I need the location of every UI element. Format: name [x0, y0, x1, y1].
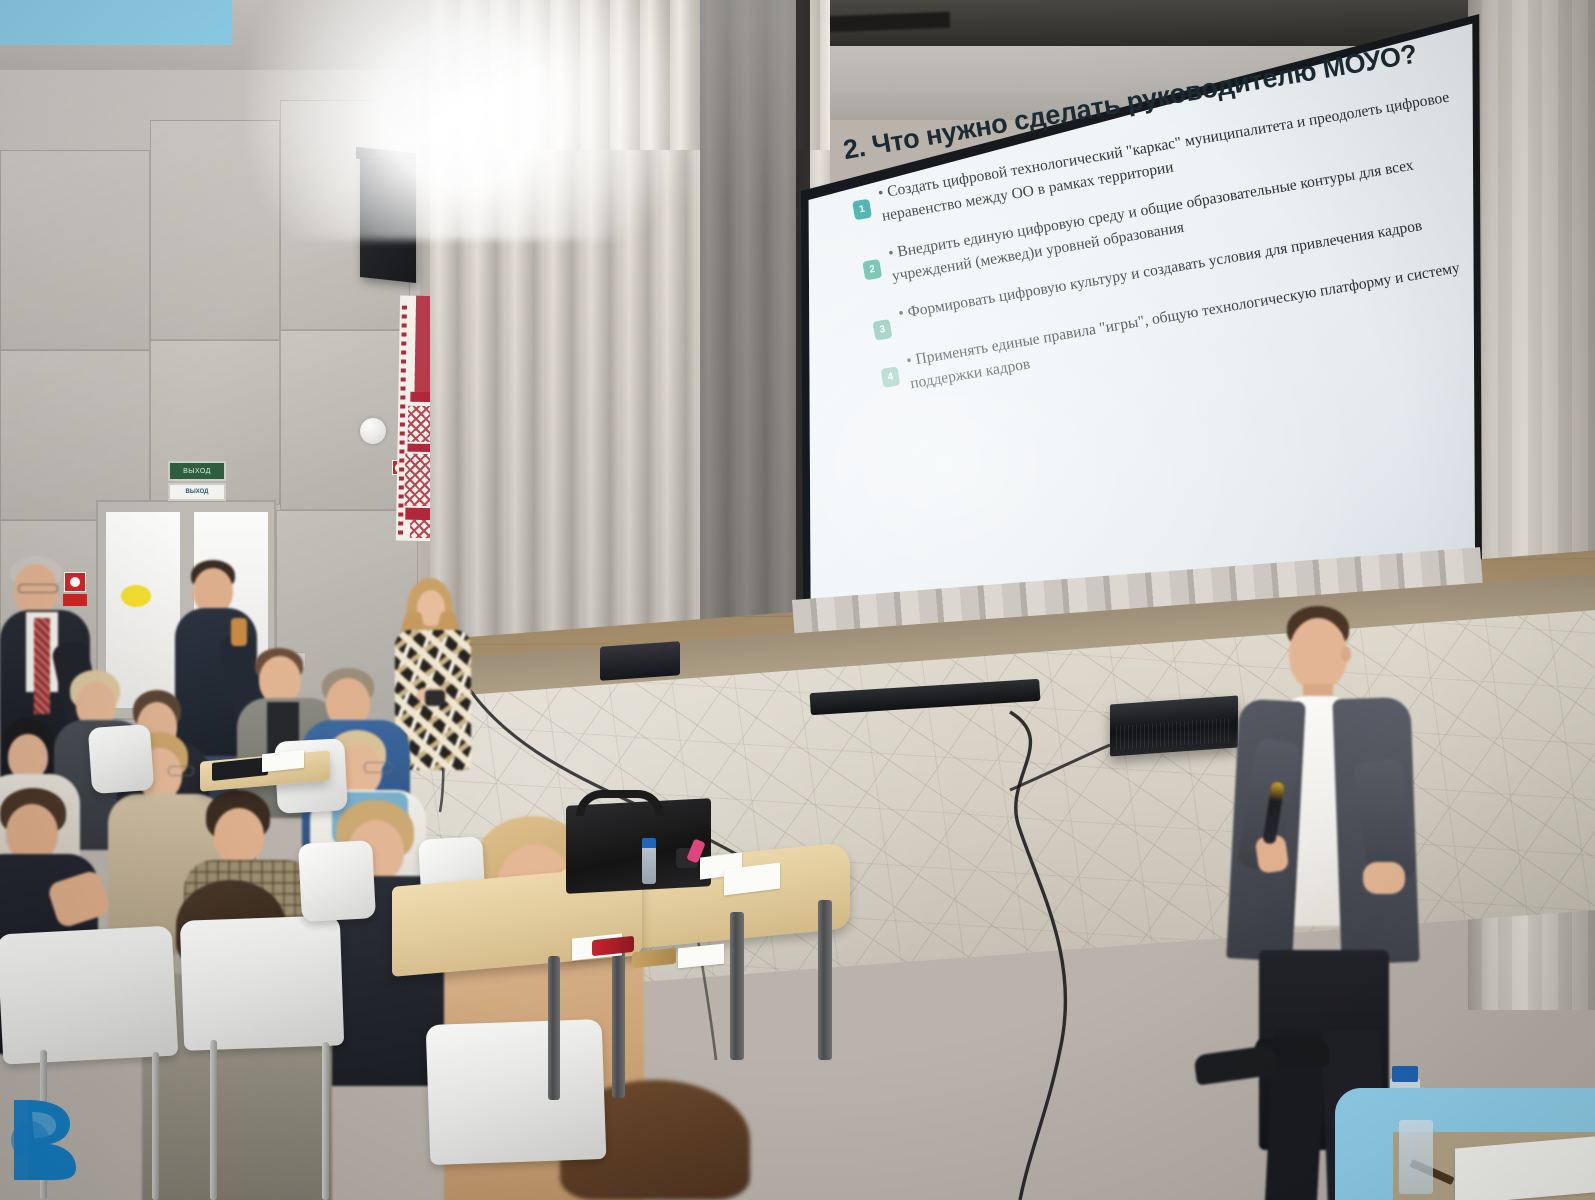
- floor-speaker-small: [600, 641, 680, 681]
- water-bottle: [642, 846, 656, 884]
- chair[interactable]: [298, 840, 376, 922]
- table-leg: [548, 956, 560, 1100]
- bullet-number-badge: 3: [872, 319, 892, 341]
- stage-monitor-speaker: [1110, 696, 1238, 757]
- table-leg: [612, 948, 625, 1098]
- necktie: [34, 618, 50, 714]
- chair-leg: [152, 1052, 159, 1200]
- chair-leg: [322, 1042, 329, 1200]
- ceiling-speaker-icon: [360, 418, 386, 444]
- bullet-number-badge: 1: [852, 199, 872, 221]
- exit-sign: ВЫХОД: [168, 461, 226, 481]
- wall-panel: [0, 350, 150, 520]
- chair-leg: [210, 1040, 217, 1200]
- chair[interactable]: [88, 724, 154, 794]
- water-bottle: [1399, 1120, 1433, 1194]
- accessibility-marker: [121, 585, 151, 607]
- wall-panel: [0, 150, 150, 350]
- exit-sign-secondary: ВЫХОД: [168, 483, 226, 501]
- chair[interactable]: [0, 926, 178, 1065]
- chair[interactable]: [426, 1019, 607, 1165]
- ceiling-light-glow: [248, 0, 678, 240]
- brand-frame-top-left-vertical: [186, 0, 232, 45]
- bullet-number-badge: 2: [862, 259, 882, 281]
- projection-screen: 2. Что нужно сделать руководителю МОУО? …: [792, 14, 1482, 614]
- conference-photo: ВЫХОД ВЫХОД 2. Что нужно сделать руковод…: [0, 0, 1595, 1200]
- table-leg: [818, 900, 832, 1060]
- bag-handle: [576, 790, 664, 816]
- bullet-number-badge: 4: [880, 366, 900, 388]
- bottle-cap: [642, 838, 656, 848]
- chair[interactable]: [180, 915, 344, 1051]
- bottle-cap: [1392, 1066, 1418, 1082]
- table-leg: [730, 912, 744, 1060]
- fire-alarm-label: [63, 594, 87, 606]
- wall-panel: [280, 330, 415, 510]
- fire-alarm-icon: [64, 572, 86, 592]
- brand-logo: [8, 1092, 82, 1188]
- handheld-bottle: [231, 618, 247, 646]
- stage-curtain-mid: [700, 0, 796, 690]
